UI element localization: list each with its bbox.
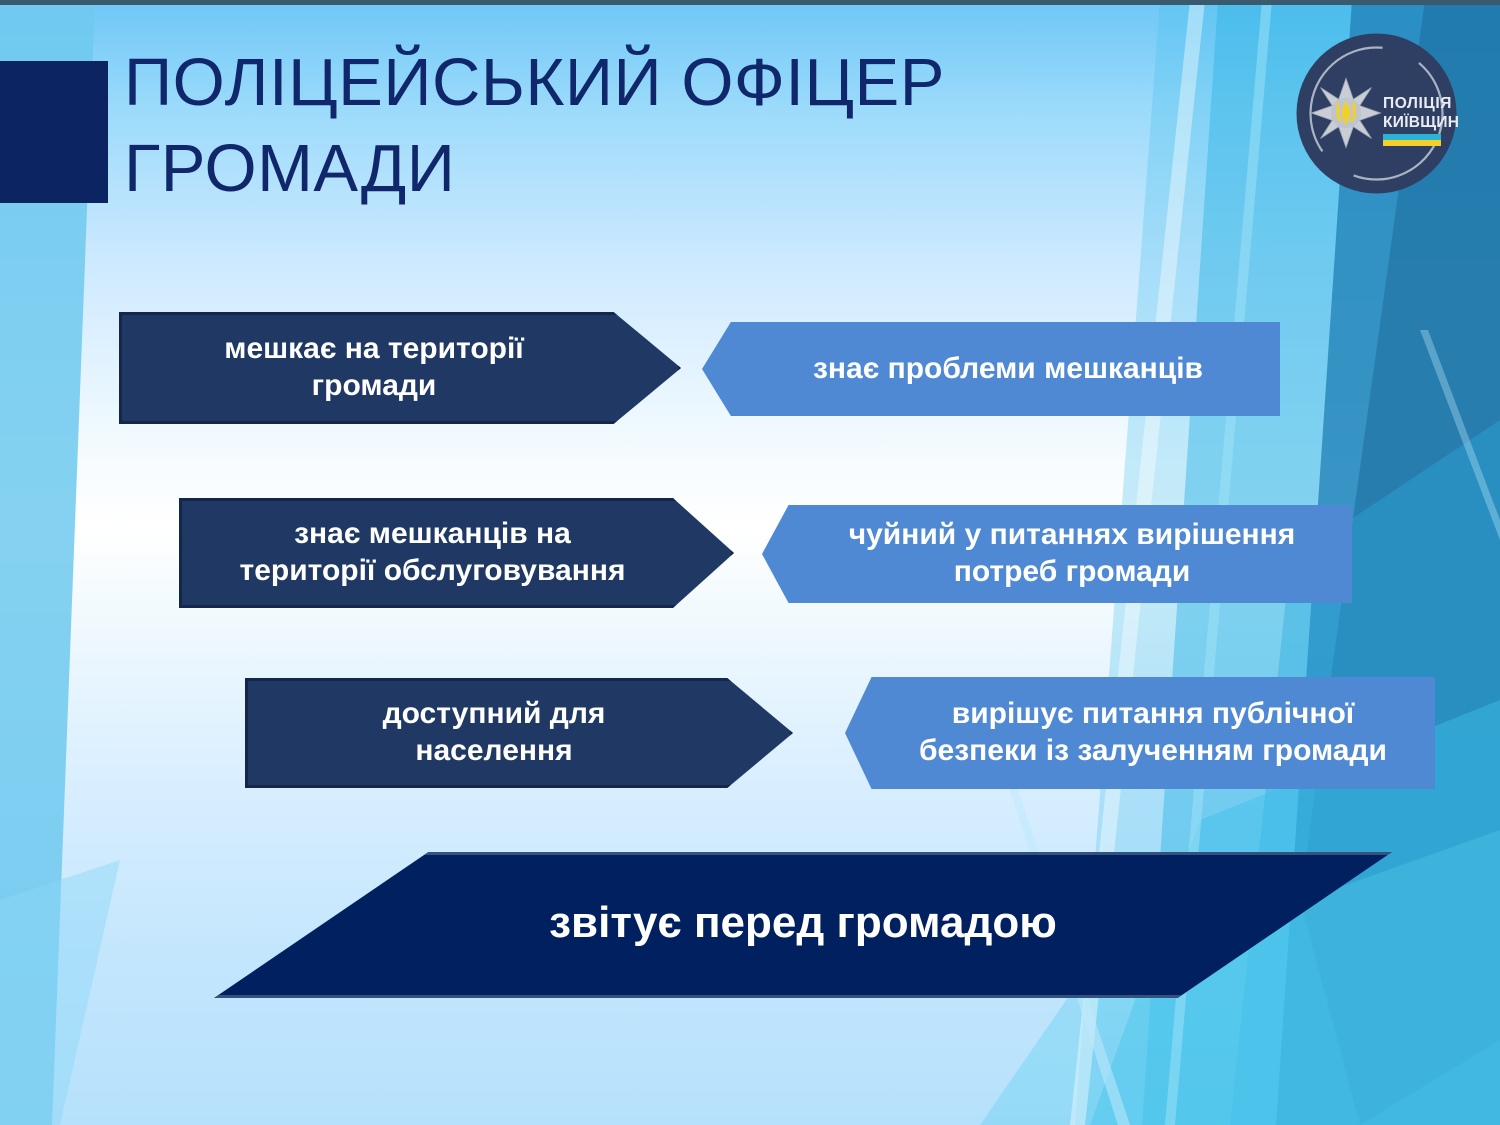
flag-stripe-yellow xyxy=(1383,140,1441,146)
chevron-label: чуйний у питаннях вирішення потреб грома… xyxy=(835,517,1310,590)
logo-line2: КИЇВЩИНИ xyxy=(1383,114,1459,131)
chevron-label: знає мешканців на території обслуговуван… xyxy=(226,516,640,589)
logo-line1: ПОЛІЦІЯ xyxy=(1383,95,1452,112)
police-kyiv-region-logo: ПОЛІЦІЯ КИЇВЩИНИ xyxy=(1294,31,1459,196)
parallelogram-reports-to-community: звітує перед громадою xyxy=(214,852,1392,998)
chevron-knows-resident-problems: знає проблеми мешканців xyxy=(702,322,1280,416)
chevron-label: знає проблеми мешканців xyxy=(799,351,1217,388)
title-accent-square xyxy=(0,61,108,203)
flag-stripe-blue xyxy=(1383,134,1441,140)
page-title: ПОЛІЦЕЙСЬКИЙ ОФІЦЕР ГРОМАДИ xyxy=(124,40,1224,212)
chevron-label: доступний для населення xyxy=(369,696,620,769)
police-star-icon xyxy=(1311,78,1380,147)
chevron-available-to-population: доступний для населення xyxy=(245,678,793,788)
top-rule xyxy=(0,0,1500,5)
chevron-label: мешкає на території громади xyxy=(210,331,538,404)
chevron-knows-residents: знає мешканців на території обслуговуван… xyxy=(179,498,734,608)
footer-label: звітує перед громадою xyxy=(535,896,1071,954)
chevron-resolves-public-safety: вирішує питання публічної безпеки із зал… xyxy=(845,677,1435,789)
slide-canvas: ПОЛІЦЕЙСЬКИЙ ОФІЦЕР ГРОМАДИ ПОЛІЦІЯ xyxy=(0,0,1500,1125)
chevron-responsive-to-needs: чуйний у питаннях вирішення потреб грома… xyxy=(762,505,1352,603)
chevron-lives-in-community: мешкає на території громади xyxy=(119,312,681,424)
chevron-label: вирішує питання публічної безпеки із зал… xyxy=(905,696,1401,769)
